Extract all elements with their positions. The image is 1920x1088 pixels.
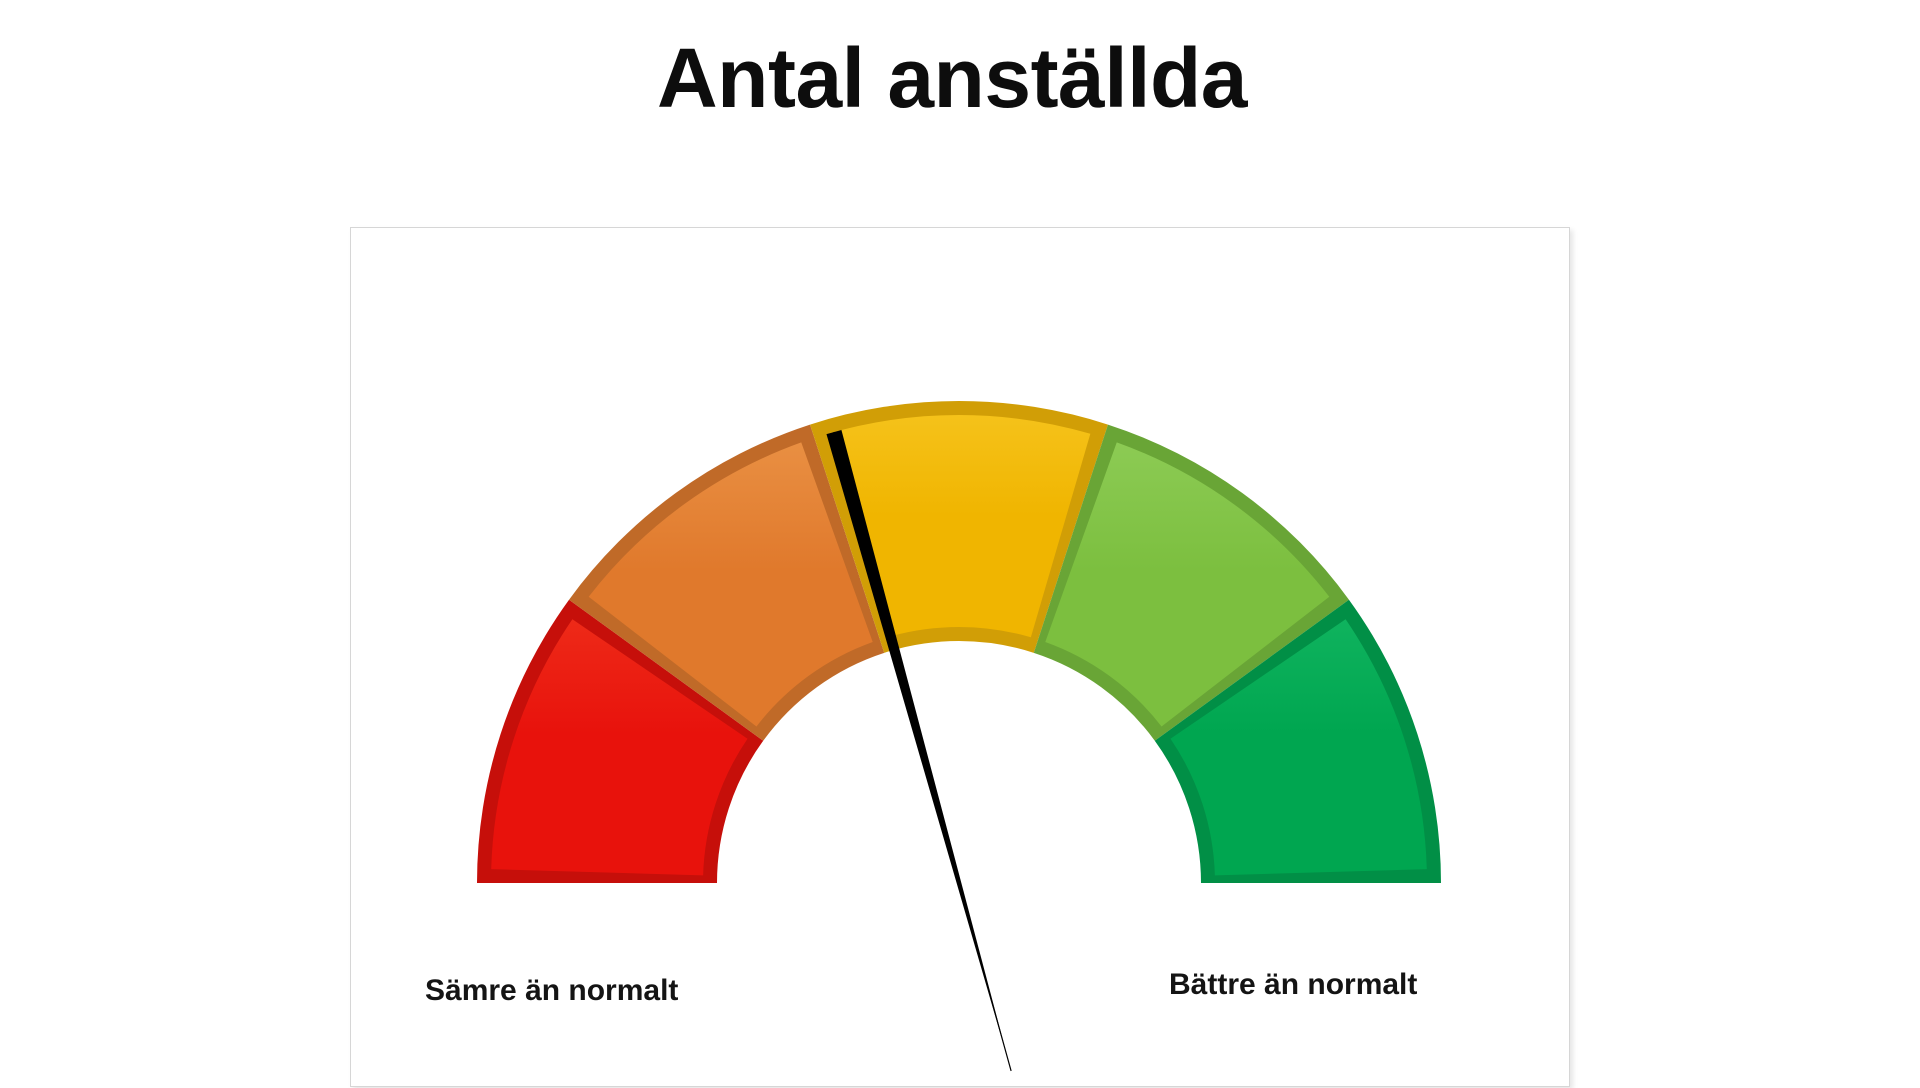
axis-label-better: Bättre än normalt: [1169, 970, 1417, 1000]
page-title: Antal anställda: [0, 34, 1920, 122]
page-root: Antal anställda Sämre än normalt Bättre …: [0, 0, 1920, 1079]
gauge-svg: [351, 228, 1571, 1088]
chart-panel: Sämre än normalt Bättre än normalt: [350, 227, 1570, 1087]
axis-label-worse: Sämre än normalt: [425, 976, 678, 1006]
gauge-chart: [351, 228, 1571, 1088]
gauge-segments: [477, 401, 1441, 883]
